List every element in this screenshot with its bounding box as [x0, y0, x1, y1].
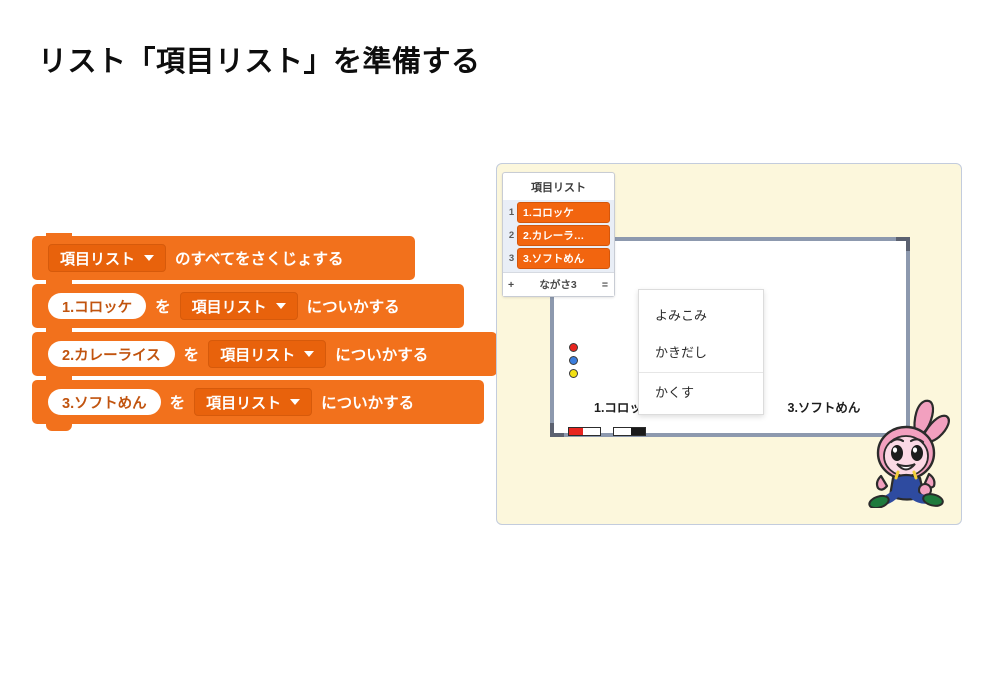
block-add-item-1[interactable]: 1.コロッケ を 項目リスト についかする — [32, 284, 464, 328]
dropdown-label: 項目リスト — [206, 392, 281, 413]
block-text-wo: を — [175, 343, 209, 365]
color-dot-group — [569, 343, 578, 382]
block-text-wo: を — [161, 391, 195, 413]
rabbit-mascot — [863, 398, 955, 508]
list-dropdown-field[interactable]: 項目リスト — [180, 292, 298, 320]
block-text-wo: を — [146, 295, 180, 317]
red-slider[interactable] — [568, 427, 601, 436]
chevron-down-icon — [276, 303, 286, 309]
mini-slider-group — [568, 427, 646, 436]
block-add-item-3[interactable]: 3.ソフトめん を 項目リスト についかする — [32, 380, 484, 424]
block-text: についかする — [326, 343, 437, 365]
chevron-down-icon — [304, 351, 314, 357]
block-text: のすべてをさくじょする — [166, 247, 353, 269]
context-menu-item-hide[interactable]: かくす — [639, 373, 763, 410]
list-dropdown-field[interactable]: 項目リスト — [194, 388, 312, 416]
list-dropdown-field[interactable]: 項目リスト — [48, 244, 166, 272]
resize-handle[interactable]: = — [602, 279, 608, 291]
page-title: リスト「項目リスト」を準備する — [38, 38, 481, 80]
block-text: についかする — [312, 391, 423, 413]
black-slider-fill — [631, 428, 645, 435]
dropdown-label: 項目リスト — [192, 296, 267, 317]
black-slider[interactable] — [613, 427, 646, 436]
scratch-block-stack: 項目リスト のすべてをさくじょする 1.コロッケ を 項目リスト についかする … — [32, 236, 497, 424]
list-item-value[interactable]: 1.コロッケ — [517, 202, 610, 223]
chevron-down-icon — [290, 399, 300, 405]
block-text: についかする — [298, 295, 409, 317]
list-monitor-rows: 1 1.コロッケ 2 2.カレーラ… 3 3.ソフトめん — [503, 200, 614, 272]
blue-dot — [569, 356, 578, 365]
list-item-value[interactable]: 2.カレーラ… — [517, 225, 610, 246]
list-item[interactable]: 2 2.カレーラ… — [503, 224, 614, 247]
list-monitor-footer: + ながさ3 = — [503, 272, 614, 296]
red-slider-fill — [569, 428, 583, 435]
list-item-index: 2 — [506, 230, 517, 241]
stage-label-3: 3.ソフトめん — [788, 397, 861, 416]
list-length-label: ながさ3 — [514, 277, 602, 292]
list-item-index: 3 — [506, 253, 517, 264]
dropdown-label: 項目リスト — [60, 248, 135, 269]
red-dot — [569, 343, 578, 352]
list-item-value[interactable]: 3.ソフトめん — [517, 248, 610, 269]
list-item[interactable]: 1 1.コロッケ — [503, 201, 614, 224]
list-item[interactable]: 3 3.ソフトめん — [503, 247, 614, 270]
corner-marker-top-right — [896, 237, 910, 251]
item-value-input[interactable]: 3.ソフトめん — [48, 389, 161, 415]
chevron-down-icon — [144, 255, 154, 261]
list-dropdown-field[interactable]: 項目リスト — [208, 340, 326, 368]
stage-panel: 1.コロッケ 2.カレーライス 3.ソフトめん 項目リスト 1 1.コロッケ 2… — [496, 163, 962, 525]
context-menu-item-import[interactable]: よみこみ — [639, 296, 763, 333]
list-monitor-title: 項目リスト — [503, 173, 614, 200]
item-value-input[interactable]: 2.カレーライス — [48, 341, 175, 367]
item-value-input[interactable]: 1.コロッケ — [48, 293, 146, 319]
list-item-index: 1 — [506, 207, 517, 218]
list-monitor[interactable]: 項目リスト 1 1.コロッケ 2 2.カレーラ… 3 3.ソフトめん + ながさ… — [502, 172, 615, 297]
dropdown-label: 項目リスト — [220, 344, 295, 365]
corner-marker-bottom-left — [550, 423, 564, 437]
block-add-item-2[interactable]: 2.カレーライス を 項目リスト についかする — [32, 332, 497, 376]
block-delete-all-of-list[interactable]: 項目リスト のすべてをさくじょする — [32, 236, 415, 280]
context-menu-item-export[interactable]: かきだし — [639, 333, 763, 370]
yellow-dot — [569, 369, 578, 378]
list-context-menu[interactable]: よみこみ かきだし かくす — [638, 289, 764, 415]
